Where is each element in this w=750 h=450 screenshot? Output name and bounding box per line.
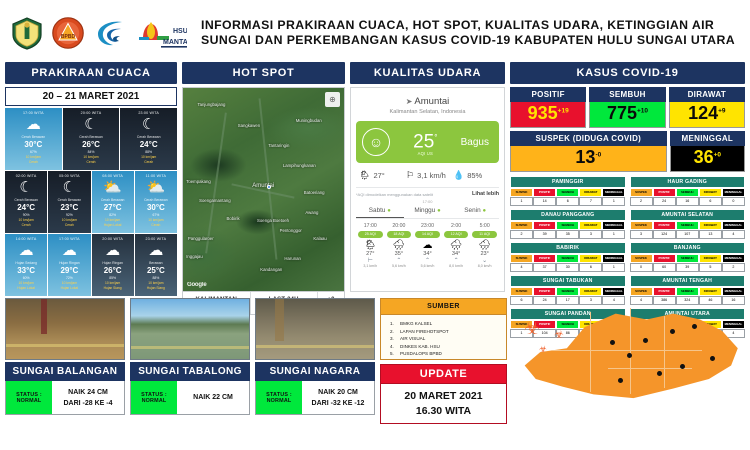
val-dirawat: 3 [579,230,602,239]
tab-minggu[interactable]: Minggu ● [404,207,452,218]
map-label: Harunan [284,256,300,261]
col-meninggal: MENINGGAL [602,287,625,296]
virus-icon: ☣ [524,318,540,339]
val-dirawat: 7 [579,197,602,206]
weather-vis: Cerah [6,223,46,227]
weather-humidity: 67% [6,150,61,154]
weather-wind: 10 km/jam [6,281,46,285]
weather-temp: 33°C [6,266,46,275]
status-value: NORMAL [142,398,167,404]
col-sembuh: SEMBUH [556,188,579,197]
district-border [590,312,591,392]
river-name: SUNGAI BALANGAN [5,362,125,381]
col-dirawat: DIRAWAT [699,221,722,230]
map-label: Muningbudan [296,118,322,123]
map-label: Soenga Boetoeh [257,218,289,223]
kpi-suspek: SUSPEK (DIDUGA COVID) 13-0 [510,131,667,172]
district-table: BANJANG SUSPEK POSITIF SEMBUH DIRAWAT ME… [630,242,746,272]
river-card-balangan: SUNGAI BALANGAN STATUS : NORMAL NAIK 24 … [5,298,125,446]
weather-temp: 30°C [6,140,61,149]
kpi-delta: +9 [718,108,725,115]
weather-time: 08:00 WITA [93,174,133,178]
col-meninggal: MENINGGAL [602,254,625,263]
map-marker [692,324,697,329]
compass-icon[interactable]: ⊕ [325,92,340,107]
wind-direction-icon: ⌃ [442,257,471,264]
map-label: Toempakang [186,179,211,184]
map-marker [610,340,615,345]
weather-time: 14:00 WITA [6,237,46,241]
val-suspek: 2 [630,197,653,206]
weather-wind: 10 km/jam [49,218,89,222]
district-value-row: 2 39 35 3 1 [510,230,626,239]
tab-senin[interactable]: Senin ● [451,207,499,218]
rain-cloud-icon: 🌧 [470,240,499,251]
weather-wind: 10 km/jam [136,218,176,222]
weather-wind: 10 km/jam [6,155,61,159]
weather-desc: Cerah Berawan [121,135,176,139]
river-readings: NAIK 22 CM [177,381,249,414]
district-header-row: SUSPEK POSITIF SEMBUH DIRAWAT MENINGGAL [630,287,746,296]
weather-vis: Hujan Siang [136,286,176,290]
weather-time: 11:00 WITA [136,174,176,178]
weather-card[interactable]: 17:00 WITA ☁ Hujan Ringan 29°C 72% 10 km… [48,234,90,296]
weather-desc: Cerah Berawan [136,198,176,202]
val-dirawat: 5 [699,263,722,272]
weather-card-grid: 17:00 WITA ☁ Cerah Berawan 30°C 67% 10 k… [5,108,177,296]
kpi-number: 124 [688,103,718,123]
aq-city-row: ➤Amuntai [356,96,499,107]
aq-hour-time: 20:00 [385,223,414,229]
col-suspek: SUSPEK [630,287,653,296]
weather-temp: 29°C [49,266,89,275]
covid-panel-title: KASUS COVID-19 [510,62,745,84]
cuaca-date-range: 20 – 21 MARET 2021 [5,87,177,106]
title-line-2: SUNGAI DAN PERKEMBANGAN KASUS COVID-19 K… [201,33,735,48]
cloud-icon: ☁ [6,242,46,259]
weather-card[interactable]: 14:00 WITA ☁ Hujan Sedang 33°C 60% 10 km… [5,234,47,296]
weather-time: 05:00 WITA [49,174,89,178]
weather-desc: Cerah Berawan [49,198,89,202]
kpi-number: 775 [607,103,637,123]
district-header-row: SUSPEK POSITIF SEMBUH DIRAWAT MENINGGAL [510,188,626,197]
col-dirawat: DIRAWAT [579,254,602,263]
flood-photo-nagara [255,298,375,360]
map-marker [680,364,685,369]
district-header-row: SUSPEK POSITIF SEMBUH DIRAWAT MENINGGAL [510,254,626,263]
district-border [664,316,665,388]
cloud-icon: ☁ [49,242,89,259]
river-change: NAIK 24 CM [68,387,108,398]
weather-row-3: 14:00 WITA ☁ Hujan Sedang 33°C 60% 10 km… [5,234,177,296]
moon-cloud-icon: ☾ [64,116,119,133]
aq-hour-time: 2:00 [442,223,471,229]
weather-time: 20:00 WITA [64,111,119,115]
col-positif: POSITIF [653,287,676,296]
weather-wind: 10 km/jam [93,218,133,222]
update-title: UPDATE [380,364,507,384]
weather-desc: Berawan [136,261,176,265]
sumber-item: 1.BMKG KALSEL [390,320,502,328]
update-time: 16.30 WITA [381,404,506,419]
map-label: Kalaau [313,236,326,241]
kpi-number: 13 [575,147,595,167]
svg-text:HSU: HSU [173,28,187,35]
rain-cloud-icon: 🌧 [442,240,471,251]
logo-hsu-mantap-icon: HSU MANTAP [133,16,187,50]
val-suspek: 2 [510,230,533,239]
hotspot-panel-title: HOT SPOT [182,62,345,84]
val-sembuh: 107 [676,230,699,239]
aq-hour-cell: 5:00 11 AQI 🌧 23° ⌄ 8,0 km/h [470,223,499,268]
weather-desc: Cerah Berawan [64,135,119,139]
flood-photo-balangan [5,298,125,360]
aq-hour-badge: 25 AQI [358,231,383,238]
svg-text:MANTAP: MANTAP [163,39,187,46]
val-meninggal: 1 [602,263,625,272]
sumber-list: 1.BMKG KALSEL 2.LAPAN FIREHOTSPOT 3.AIR … [380,315,507,360]
val-meninggal: 1 [602,197,625,206]
google-attribution: Google [187,282,206,288]
aq-hour-time: 5:00 [470,223,499,229]
cloud-sun-icon: ⛅ [93,179,133,196]
river-change: NAIK 20 CM [318,387,358,398]
sumber-item: 3.AIR VISUAL [390,335,502,343]
svg-text:BPBD: BPBD [61,34,76,40]
cloud-icon: ☁ [413,240,442,251]
map-marker [657,371,662,376]
aq-hour-badge: 14 AQI [415,231,440,238]
map-label: Pentonggor [280,228,302,233]
river-status-row: STATUS : NORMAL NAIK 22 CM [130,381,250,415]
aq-hourly-forecast: 17:00 25 AQI 🌦 27° ⊢ 3,1 km/h 20:00 18 A… [356,223,499,268]
sumber-title: SUMBER [380,298,507,315]
weather-vis: Cerah [64,160,119,164]
aq-stat-humidity: 💧 85% [453,170,496,181]
col-positif: POSITIF [653,254,676,263]
col-positif: POSITIF [653,188,676,197]
map-label: Batoeriang [304,190,325,195]
kpi-meninggal: MENINGGAL 36+0 [670,131,745,172]
moon-cloud-icon: ☾ [6,179,46,196]
val-sembuh: 30 [556,263,579,272]
page-title: INFORMASI PRAKIRAAN CUACA, HOT SPOT, KUA… [201,18,735,48]
weather-desc: Hujan Sedang [6,261,46,265]
logo-group: BPBD HSU MANTAP [10,16,187,50]
district-name: DANAU PANGGANG [510,209,626,221]
weather-temp: 23°C [49,203,89,212]
weather-temp: 26°C [93,266,133,275]
map-label: Tantaringin [268,143,289,148]
weather-time: 17:00 WITA [6,111,61,115]
weather-humidity: 85% [93,276,133,280]
weather-card[interactable]: 11:00 WITA ⛅ Cerah Berawan 30°C 67% 10 k… [135,171,177,233]
aq-city-name: Amuntai [414,96,449,107]
kpi-label: DIRAWAT [669,87,745,102]
weather-time: 23:00 WITA [136,237,176,241]
col-meninggal: MENINGGAL [722,188,745,197]
district-value-row: 0 60 39 5 2 [630,263,746,272]
panel-kasus-covid: KASUS COVID-19 POSITIF 935+19 SEMBUH 775… [510,62,745,294]
weather-vis: Hujan Lokal [49,286,89,290]
weather-card[interactable]: 05:00 WITA ☾ Cerah Berawan 23°C 92% 10 k… [48,171,90,233]
aq-hour-time: 23:00 [413,223,442,229]
kpi-label: MENINGGAL [670,131,745,146]
map-label: Soengamantang [199,198,231,203]
val-positif: 39 [533,230,556,239]
aq-stat-wind: ⚐ 3,1 km/h [406,170,449,181]
weather-card[interactable]: 23:00 WITA ☁ Berawan 25°C 88% 10 km/jam … [135,234,177,296]
flood-photo-tabalong [130,298,250,360]
weather-humidity: 82% [93,213,133,217]
val-suspek: 1 [510,197,533,206]
river-readings: NAIK 20 CM DARI -32 KE -12 [302,381,374,414]
aq-hour-wind: 8,0 km/h [442,264,471,268]
river-status-badge: STATUS : NORMAL [131,381,177,414]
aq-hour-cell: 20:00 18 AQI 🌧 35° ⌃ 5,6 km/h [385,223,414,268]
aq-day-tabs: Sabtu ● Minggu ● Senin ● [356,207,499,219]
rain-cloud-icon: 🌧 [385,240,414,251]
val-suspek: 0 [630,263,653,272]
weather-vis: Hujan Lokal [6,286,46,290]
udara-panel-title: KUALITAS UDARA [350,62,505,84]
aq-stats-row: 🌦 27° ⚐ 3,1 km/h 💧 85% [356,170,499,181]
aq-hour-wind: 3,1 km/h [356,264,385,268]
river-card-nagara: SUNGAI NAGARA STATUS : NORMAL NAIK 20 CM… [255,298,375,446]
col-positif: POSITIF [533,188,556,197]
kpi-value: 775+10 [589,102,665,128]
aq-humidity-value: 85% [467,171,482,180]
weather-desc: Hujan Ringan [93,261,133,265]
river-status-row: STATUS : NORMAL NAIK 20 CM DARI -32 KE -… [255,381,375,415]
val-suspek: 3 [630,230,653,239]
sumber-item: 5.PUSDALOPS BPBD [390,350,502,358]
cloud-sun-icon: ☁ [6,116,61,133]
weather-card[interactable]: 17:00 WITA ☁ Cerah Berawan 30°C 67% 10 k… [5,108,62,170]
aq-region: Kalimantan Selatan, Indonesia [356,109,499,115]
wind-direction-icon: ⌃ [385,257,414,264]
covid-kpi-row-2: SUSPEK (DIDUGA COVID) 13-0 MENINGGAL 36+… [510,131,745,172]
district-header-row: SUSPEK POSITIF SEMBUH DIRAWAT MENINGGAL [630,254,746,263]
aq-hour-wind: 8,0 km/h [470,264,499,268]
weather-temp: 27°C [93,203,133,212]
weather-humidity: 90% [6,213,46,217]
kpi-sembuh: SEMBUH 775+10 [589,87,665,128]
region-map: ☣ ☣ ☣ [512,298,745,446]
district-table: DANAU PANGGANG SUSPEK POSITIF SEMBUH DIR… [510,209,626,239]
district-value-row: 2 24 16 6 0 [630,197,746,206]
aq-center-time: 17:00 [356,199,499,204]
tab-sabtu[interactable]: Sabtu ● [356,207,404,218]
col-dirawat: DIRAWAT [699,287,722,296]
district-border [608,368,692,369]
weather-time: 20:00 WITA [93,237,133,241]
col-dirawat: DIRAWAT [699,254,722,263]
col-dirawat: DIRAWAT [579,188,602,197]
weather-humidity: 92% [49,213,89,217]
humidity-drop-icon: 💧 [453,170,464,181]
aq-note-text: *AQI dimodelkan menggunakan data satelit [356,192,433,197]
river-name: SUNGAI NAGARA [255,362,375,381]
wind-direction-icon: ⌃ [413,257,442,264]
aq-hour-cell: 23:00 14 AQI ☁ 34° ⌃ 5,6 km/h [413,223,442,268]
weather-humidity: 67% [136,213,176,217]
col-sembuh: SEMBUH [556,254,579,263]
kpi-delta: -0 [595,152,601,159]
map-label: Kandangan [260,267,282,272]
col-sembuh: SEMBUH [676,254,699,263]
district-value-row: 1 14 6 7 1 [510,197,626,206]
col-meninggal: MENINGGAL [722,254,745,263]
kpi-label: SUSPEK (DIDUGA COVID) [510,131,667,146]
river-status-badge: STATUS : NORMAL [6,381,52,414]
logo-bpbd-icon: BPBD [51,16,85,50]
district-name: AMUNTAI TENGAH [630,275,746,287]
weather-vis: Hujan Siang [93,286,133,290]
sumber-update-column: SUMBER 1.BMKG KALSEL 2.LAPAN FIREHOTSPOT… [380,298,507,446]
map-marker [643,338,648,343]
kpi-delta: +10 [637,108,648,115]
moon-cloud-icon: ☾ [49,179,89,196]
aq-hour-cell: 17:00 25 AQI 🌦 27° ⊢ 3,1 km/h [356,223,385,268]
panel-prakiraan-cuaca: PRAKIRAAN CUACA 20 – 21 MARET 2021 17:00… [5,62,177,294]
weather-temp: 24°C [6,203,46,212]
district-table: HAUR GADING SUSPEK POSITIF SEMBUH DIRAWA… [630,176,746,206]
cloud-icon: ☁ [136,242,176,259]
virus-icon: ☣ [539,344,547,355]
map-label: Inggajau [186,254,203,259]
cloud-icon: ☁ [93,242,133,259]
aq-value-block: 25° AQI US [390,128,461,156]
air-quality-card: ➤Amuntai Kalimantan Selatan, Indonesia ☺… [350,87,505,292]
val-dirawat: 13 [699,230,722,239]
river-card-tabalong: SUNGAI TABALONG STATUS : NORMAL NAIK 22 … [130,298,250,446]
district-header-row: SUSPEK POSITIF SEMBUH DIRAWAT MENINGGAL [630,188,746,197]
weather-card[interactable]: 08:00 WITA ⛅ Cerah Berawan 27°C 82% 10 k… [92,171,134,233]
map-marker [710,356,715,361]
update-date: 20 MARET 2021 [381,389,506,404]
aq-see-more-link[interactable]: Lihat lebih [472,191,499,197]
weather-time: 02:00 WITA [6,174,46,178]
val-sembuh: 6 [556,197,579,206]
val-meninggal: 1 [602,230,625,239]
weather-humidity: 88% [121,150,176,154]
river-range: DARI -32 KE -12 [312,398,365,409]
district-table: AMUNTAI SELATAN SUSPEK POSITIF SEMBUH DI… [630,209,746,239]
aq-number: 25° [390,128,461,151]
map-label: Panggularoer [188,236,214,241]
col-sembuh: SEMBUH [556,221,579,230]
val-positif: 37 [533,263,556,272]
smiling-face-icon: ☺ [362,128,390,156]
district-value-row: 3 124 107 13 4 [630,230,746,239]
weather-desc: Cerah Berawan [6,198,46,202]
district-header-row: SUSPEK POSITIF SEMBUH DIRAWAT MENINGGAL [510,221,626,230]
river-cards: SUNGAI BALANGAN STATUS : NORMAL NAIK 24 … [5,298,375,446]
district-name: BANJANG [630,242,746,254]
kpi-value: 935+19 [510,102,586,128]
aq-stat-temp: 🌦 27° [359,170,402,181]
aq-hour-wind: 5,6 km/h [413,264,442,268]
weather-temp: 26°C [64,140,119,149]
kpi-label: SEMBUH [589,87,665,102]
cloud-sun-icon: ⛅ [136,179,176,196]
weather-humidity: 60% [6,276,46,280]
district-name: PAMINGGIR [510,176,626,188]
col-positif: POSITIF [533,254,556,263]
val-dirawat: 6 [579,263,602,272]
aq-unit: AQI US [390,151,461,156]
logo-pemkab-hsu-icon [10,16,44,50]
weather-desc: Cerah Berawan [93,198,133,202]
status-value: NORMAL [267,398,292,404]
col-dirawat: DIRAWAT [579,287,602,296]
val-positif: 14 [533,197,556,206]
main-columns: PRAKIRAAN CUACA 20 – 21 MARET 2021 17:00… [0,62,750,294]
weather-wind: 10 km/jam [64,155,119,159]
map-marker [627,353,632,358]
col-suspek: SUSPEK [510,188,533,197]
val-meninggal: 0 [722,197,745,206]
kpi-delta: +19 [558,108,569,115]
wind-direction-icon: ⌄ [470,257,499,264]
col-suspek: SUSPEK [510,221,533,230]
weather-row-2: 02:00 WITA ☾ Cerah Berawan 24°C 90% 10 k… [5,171,177,233]
district-name: AMUNTAI SELATAN [630,209,746,221]
kpi-number: 935 [528,103,558,123]
weather-vis: Cerah [136,223,176,227]
map-label-amuntai: Amuntai [252,183,274,189]
river-change: NAIK 22 CM [193,392,233,403]
col-meninggal: MENINGGAL [722,221,745,230]
weather-time: 17:00 WITA [49,237,89,241]
weather-humidity: 72% [49,276,89,280]
aq-hour-badge: 11 AQI [472,231,497,238]
partly-rainy-icon: 🌦 [356,240,385,251]
weather-time: 23:00 WITA [121,111,176,115]
map-label: Tanjungbajang [197,102,225,107]
weather-card[interactable]: 20:00 WITA ☾ Cerah Berawan 26°C 84% 10 k… [63,108,120,170]
weather-card[interactable]: 20:00 WITA ☁ Hujan Ringan 26°C 85% 10 km… [92,234,134,296]
sumber-item: 2.LAPAN FIREHOTSPOT [390,328,502,336]
kpi-positif: POSITIF 935+19 [510,87,586,128]
kpi-value: 13-0 [510,146,667,172]
partly-rainy-icon: 🌦 [359,170,370,181]
col-positif: POSITIF [653,221,676,230]
district-name: HAUR GADING [630,176,746,188]
weather-wind: 10 km/jam [121,155,176,159]
wind-direction-icon: ⊢ [356,257,385,264]
map-label: Sangkawen [238,123,260,128]
river-range: DARI -28 KE -4 [63,398,112,409]
val-meninggal: 4 [722,230,745,239]
weather-card[interactable]: 23:00 WITA ☾ Cerah Berawan 24°C 88% 10 k… [120,108,177,170]
col-sembuh: SEMBUH [676,221,699,230]
kpi-value: 124+9 [669,102,745,128]
bottom-section: SUNGAI BALANGAN STATUS : NORMAL NAIK 24 … [0,294,750,446]
col-suspek: SUSPEK [510,254,533,263]
weather-vis: Cerah [49,223,89,227]
hotspot-map[interactable]: Tanjungbajang Sangkawen Muningbudan Tant… [182,87,345,292]
kpi-number: 36 [694,147,714,167]
col-meninggal: MENINGGAL [602,221,625,230]
aq-hour-time: 17:00 [356,223,385,229]
weather-temp: 24°C [121,140,176,149]
weather-card[interactable]: 02:00 WITA ☾ Cerah Berawan 24°C 90% 10 k… [5,171,47,233]
col-positif: POSITIF [533,221,556,230]
weather-wind: 10 km/jam [93,281,133,285]
aq-note-row: *AQI dimodelkan menggunakan data satelit… [356,187,499,197]
